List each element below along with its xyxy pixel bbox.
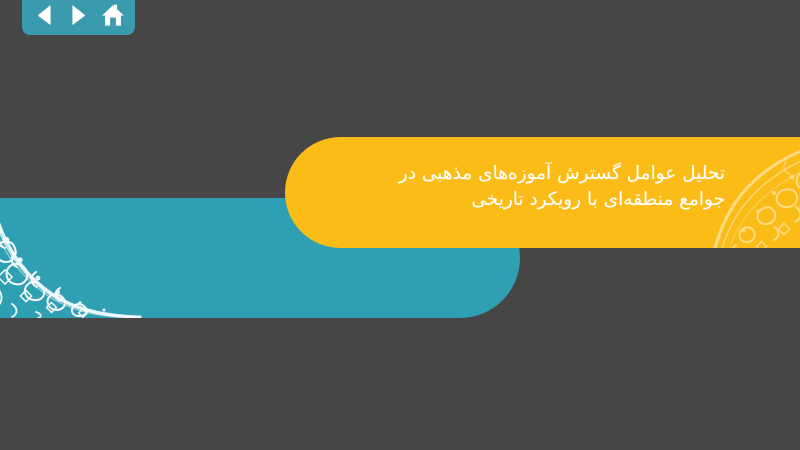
- navigation-toolbar: [22, 0, 135, 35]
- slide-canvas: تحلیل عوامل گسترش آموزه‌های مذهبی در جوا…: [0, 0, 800, 450]
- arabesque-ornament-white-icon: [0, 200, 142, 318]
- home-icon: [101, 4, 125, 27]
- slide-title: تحلیل عوامل گسترش آموزه‌های مذهبی در جوا…: [355, 161, 725, 214]
- triangle-left-icon: [34, 4, 54, 26]
- triangle-right-icon: [69, 4, 89, 26]
- home-button[interactable]: [100, 2, 126, 28]
- previous-button[interactable]: [31, 2, 57, 28]
- title-panel: تحلیل عوامل گسترش آموزه‌های مذهبی در جوا…: [285, 137, 800, 248]
- next-button[interactable]: [66, 2, 92, 28]
